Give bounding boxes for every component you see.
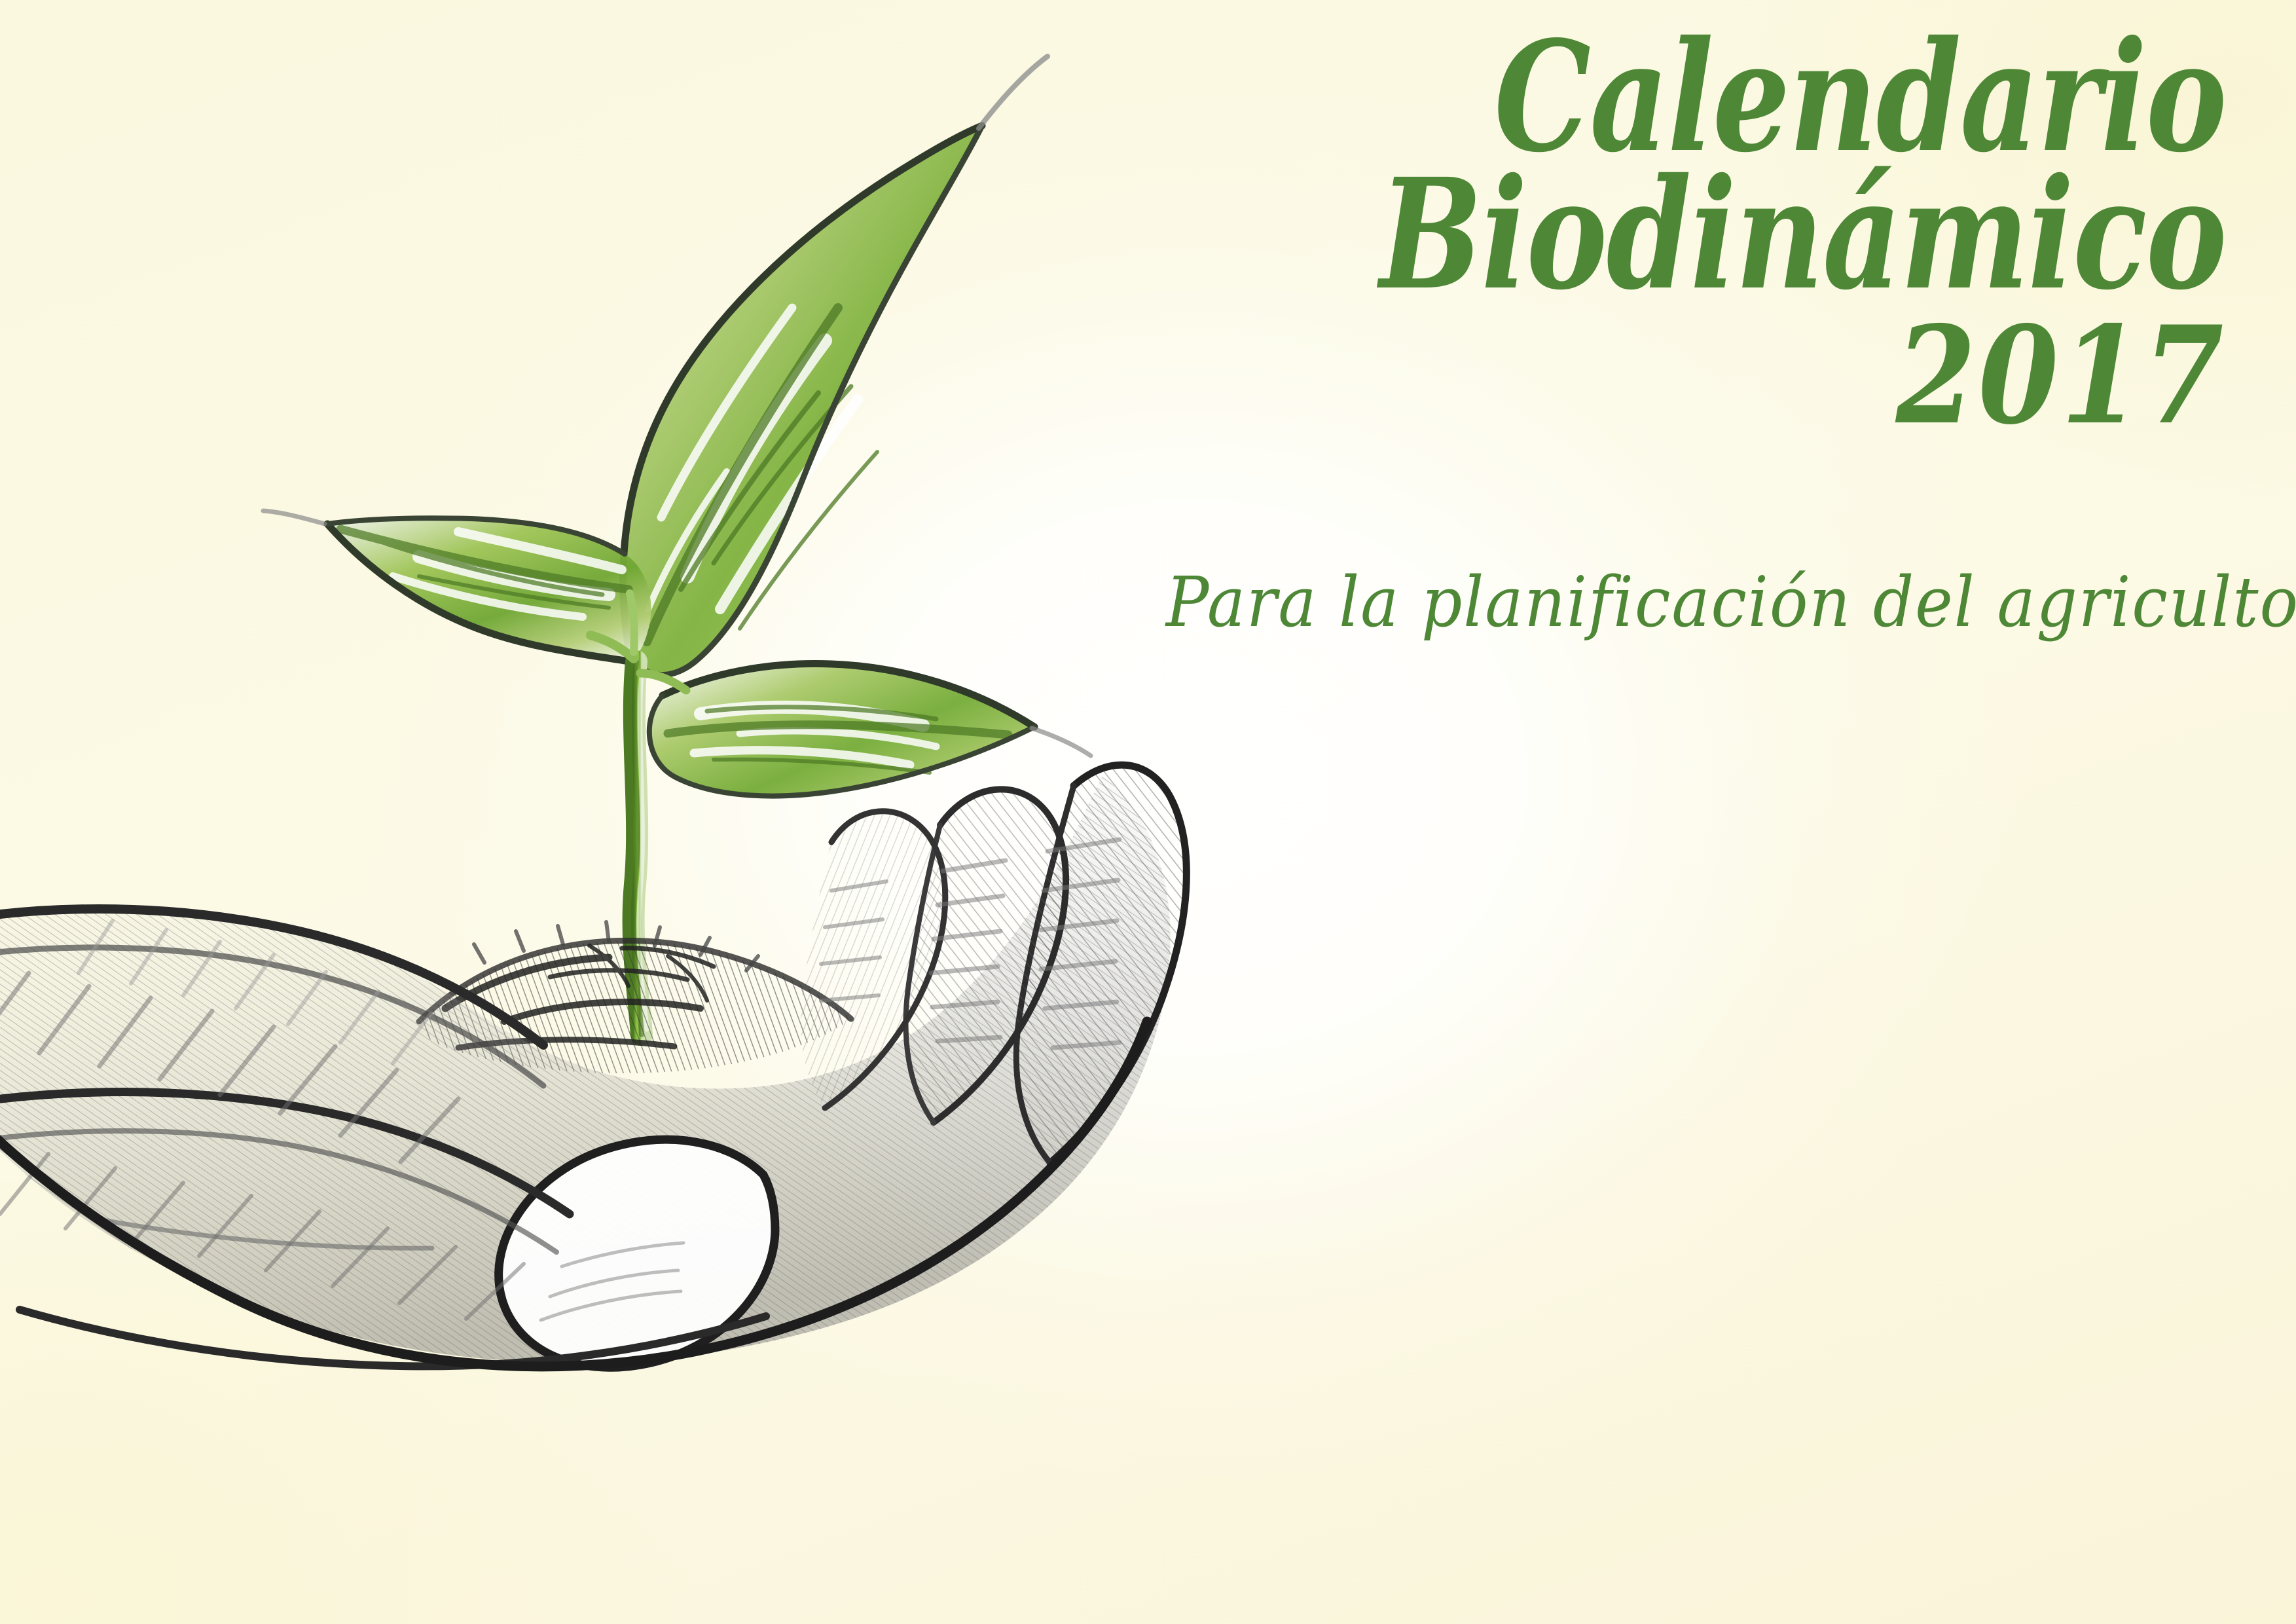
title-year: 2017	[1235, 309, 2226, 443]
calendar-cover: Calendario Biodinámico 2017 Para la plan…	[0, 0, 2296, 1624]
title-block: Calendario Biodinámico 2017	[1074, 26, 2226, 443]
cover-subtitle: Para la planificación del agricultor	[1166, 562, 2226, 642]
title-line-2: Biodinámico	[1304, 164, 2226, 305]
